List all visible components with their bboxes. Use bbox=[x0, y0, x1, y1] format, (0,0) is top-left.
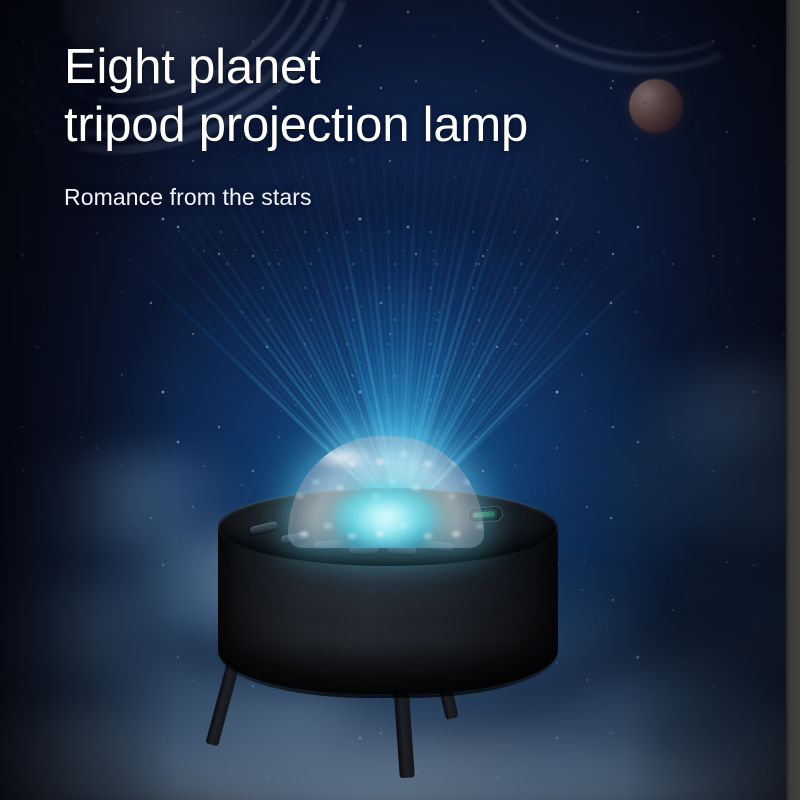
subtitle: Romance from the stars bbox=[64, 184, 684, 211]
dome-highlight bbox=[310, 444, 372, 470]
crystal-dome bbox=[288, 436, 484, 548]
product-banner: Eight planet tripod projection lamp Roma… bbox=[0, 0, 800, 800]
tripod-projection-lamp bbox=[196, 430, 608, 800]
headline-line-1: Eight planet bbox=[64, 40, 320, 94]
page-title: Eight planet tripod projection lamp bbox=[64, 38, 684, 155]
headline-line-2: tripod projection lamp bbox=[64, 96, 684, 154]
lamp-base-shadow bbox=[218, 642, 558, 698]
right-edge-strip bbox=[786, 0, 800, 800]
marketing-copy: Eight planet tripod projection lamp Roma… bbox=[64, 38, 684, 211]
